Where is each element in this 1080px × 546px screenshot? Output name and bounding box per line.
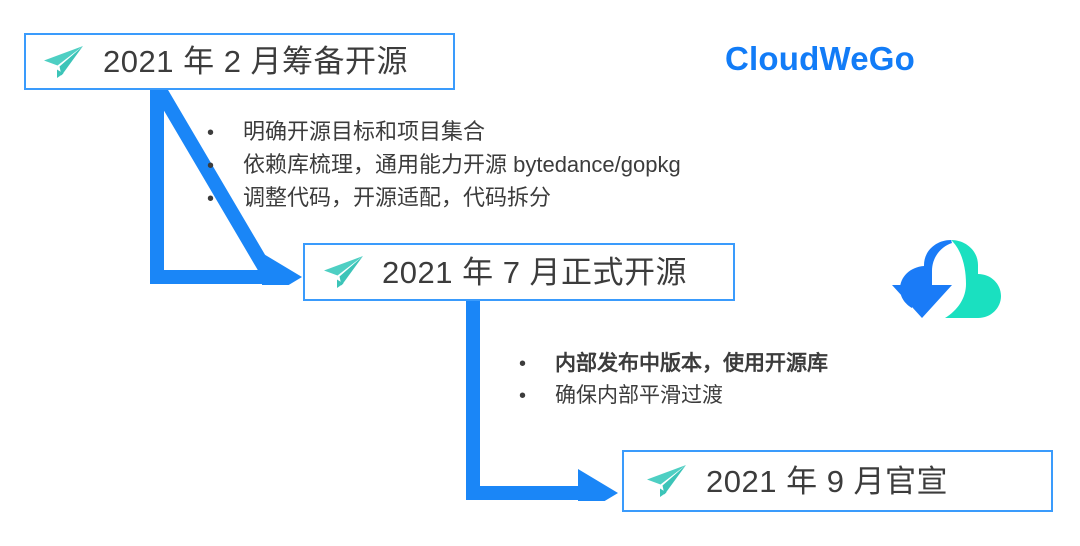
bullet-dot: • <box>519 349 555 380</box>
milestone-label: 2021 年 9 月官宣 <box>706 466 948 497</box>
list-item: • 确保内部平滑过渡 <box>519 380 828 412</box>
cloudwego-cloud-arrow-logo <box>888 238 1006 322</box>
list-item-text: 确保内部平滑过渡 <box>555 380 723 411</box>
bullet-dot: • <box>519 381 555 412</box>
slide-canvas: 2021 年 2 月筹备开源 • 明确开源目标和项目集合 • 依赖库梳理，通用能… <box>0 0 1080 546</box>
bullet-dot: • <box>207 184 243 215</box>
list-item: • 明确开源目标和项目集合 <box>207 116 681 149</box>
paper-plane-icon <box>321 255 365 289</box>
paper-plane-icon <box>644 464 688 498</box>
bullet-dot: • <box>207 118 243 149</box>
list-item-text: 调整代码，开源适配，代码拆分 <box>243 182 551 213</box>
paper-plane-icon <box>41 45 85 79</box>
milestone-box-feb-2021[interactable]: 2021 年 2 月筹备开源 <box>24 33 455 90</box>
details-jul-2021: • 内部发布中版本，使用开源库 • 确保内部平滑过渡 <box>519 348 828 412</box>
details-feb-2021: • 明确开源目标和项目集合 • 依赖库梳理，通用能力开源 bytedance/g… <box>207 116 681 215</box>
brand-wordmark: CloudWeGo <box>725 40 915 78</box>
milestone-box-sep-2021[interactable]: 2021 年 9 月官宣 <box>622 450 1053 512</box>
list-item-text: 依赖库梳理，通用能力开源 bytedance/gopkg <box>243 149 681 180</box>
list-item: • 依赖库梳理，通用能力开源 bytedance/gopkg <box>207 149 681 182</box>
list-item: • 内部发布中版本，使用开源库 <box>519 348 828 380</box>
list-item-text: 明确开源目标和项目集合 <box>243 116 485 147</box>
milestone-label: 2021 年 2 月筹备开源 <box>103 46 408 77</box>
bullet-dot: • <box>207 151 243 182</box>
list-item-text: 内部发布中版本，使用开源库 <box>555 348 828 379</box>
milestone-box-jul-2021[interactable]: 2021 年 7 月正式开源 <box>303 243 735 301</box>
list-item: • 调整代码，开源适配，代码拆分 <box>207 182 681 215</box>
milestone-label: 2021 年 7 月正式开源 <box>382 257 687 288</box>
